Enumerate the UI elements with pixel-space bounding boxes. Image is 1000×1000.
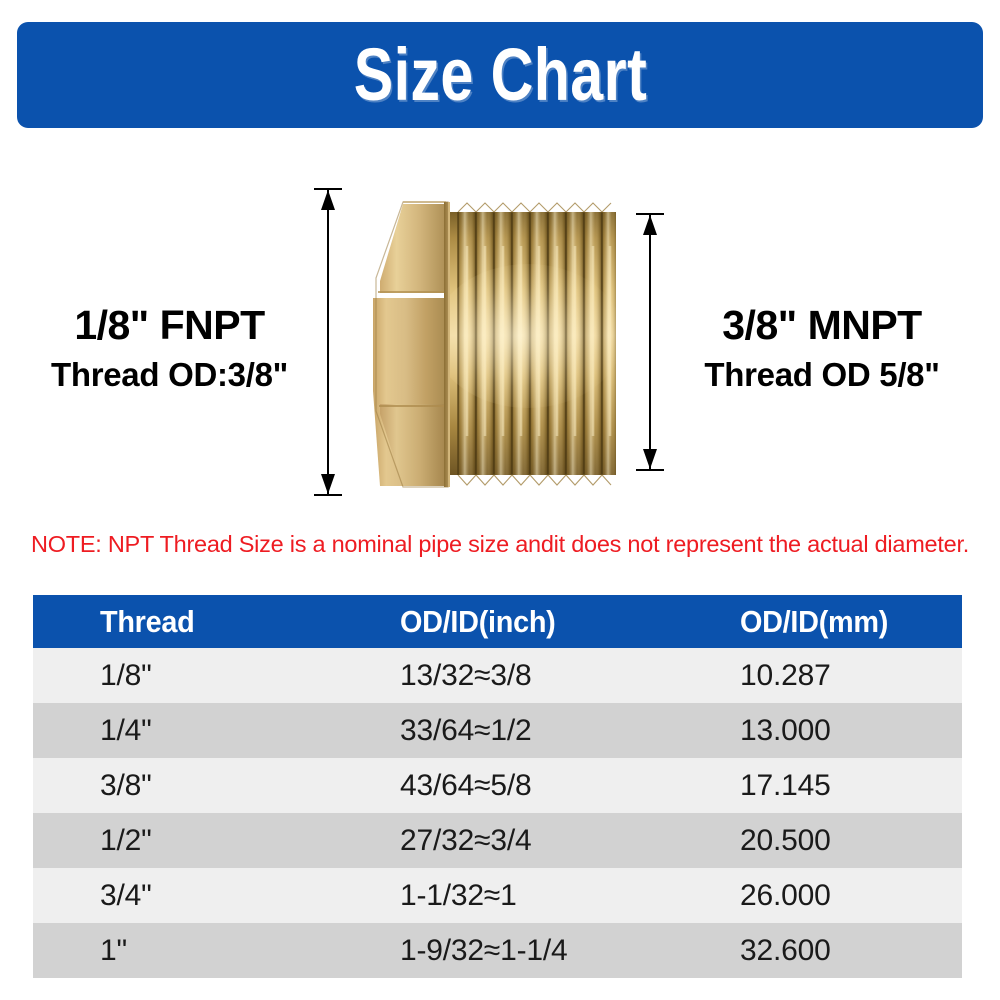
dimension-arrow-right (636, 213, 664, 471)
left-spec-subtitle: Thread OD:3/8" (22, 353, 317, 397)
size-chart-page: Size Chart 1/8" FNPT Thread OD:3/8" 3/8"… (0, 0, 1000, 1000)
dimension-cap-bottom-icon (636, 469, 664, 471)
cell-thread: 3/4" (33, 868, 333, 923)
right-spec-subtitle: Thread OD 5/8" (672, 353, 972, 397)
cell-thread: 1" (33, 923, 333, 978)
header-banner: Size Chart (17, 22, 983, 128)
left-spec-label: 1/8" FNPT Thread OD:3/8" (22, 300, 317, 397)
dimension-cap-bottom-icon (314, 494, 342, 496)
cell-mm: 20.500 (673, 813, 962, 868)
cell-thread: 1/2" (33, 813, 333, 868)
cell-mm: 10.287 (673, 648, 962, 703)
cell-inch: 1-9/32≈1-1/4 (333, 923, 673, 978)
table-row: 1/2" 27/32≈3/4 20.500 (33, 813, 962, 868)
cell-mm: 13.000 (673, 703, 962, 758)
cell-inch: 43/64≈5/8 (333, 758, 673, 813)
note-text: NOTE: NPT Thread Size is a nominal pipe … (31, 529, 981, 559)
table-row: 1" 1-9/32≈1-1/4 32.600 (33, 923, 962, 978)
cell-inch: 33/64≈1/2 (333, 703, 673, 758)
table-row: 3/8" 43/64≈5/8 17.145 (33, 758, 962, 813)
dimension-stem-icon (327, 188, 329, 496)
arrowhead-up-icon (321, 190, 335, 210)
table-body: 1/8" 13/32≈3/8 10.287 1/4" 33/64≈1/2 13.… (33, 648, 962, 978)
cell-inch: 1-1/32≈1 (333, 868, 673, 923)
cell-inch: 13/32≈3/8 (333, 648, 673, 703)
column-header-od-id-mm-label: OD/ID(mm) (740, 604, 888, 640)
column-header-od-id-inch-label: OD/ID(inch) (400, 604, 555, 640)
table-row: 1/4" 33/64≈1/2 13.000 (33, 703, 962, 758)
column-header-thread: Thread (33, 595, 333, 648)
cell-thread: 1/4" (33, 703, 333, 758)
table-header: Thread OD/ID(inch) OD/ID(mm) (33, 595, 962, 648)
cell-thread: 1/8" (33, 648, 333, 703)
table-row: 1/8" 13/32≈3/8 10.287 (33, 648, 962, 703)
arrowhead-down-icon (321, 474, 335, 494)
table-header-row: Thread OD/ID(inch) OD/ID(mm) (33, 595, 962, 648)
dimension-stem-icon (649, 213, 651, 471)
column-header-thread-label: Thread (100, 604, 194, 640)
cell-thread: 3/8" (33, 758, 333, 813)
right-spec-label: 3/8" MNPT Thread OD 5/8" (672, 300, 972, 397)
cell-mm: 26.000 (673, 868, 962, 923)
column-header-od-id-inch: OD/ID(inch) (333, 595, 673, 648)
brass-hex-bushing-image (368, 186, 620, 501)
right-spec-title: 3/8" MNPT (672, 300, 972, 350)
left-spec-title: 1/8" FNPT (22, 300, 317, 350)
page-title: Size Chart (353, 38, 647, 112)
arrowhead-up-icon (643, 215, 657, 235)
table-row: 3/4" 1-1/32≈1 26.000 (33, 868, 962, 923)
size-table: Thread OD/ID(inch) OD/ID(mm) 1/8" 13/32≈… (33, 595, 962, 978)
cell-inch: 27/32≈3/4 (333, 813, 673, 868)
dimension-arrow-left (314, 188, 342, 496)
cell-mm: 17.145 (673, 758, 962, 813)
arrowhead-down-icon (643, 449, 657, 469)
column-header-od-id-mm: OD/ID(mm) (673, 595, 962, 648)
cell-mm: 32.600 (673, 923, 962, 978)
